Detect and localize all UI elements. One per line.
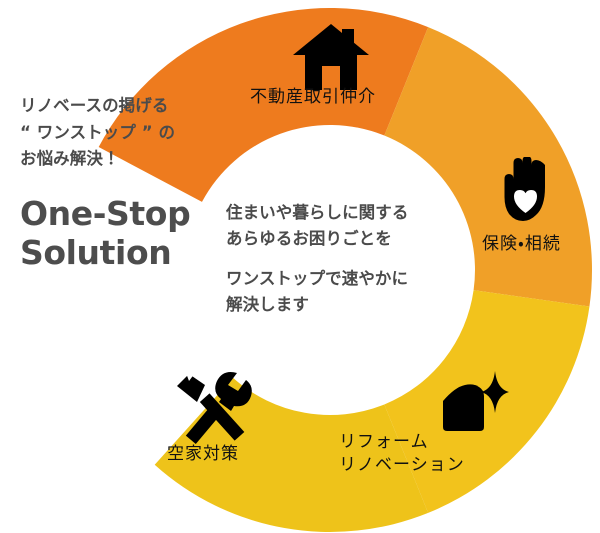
house-sparkle-icon xyxy=(437,371,509,433)
house-icon xyxy=(293,24,369,90)
hammer-wrench-icon xyxy=(175,371,255,445)
japanese-headline: リノベースの掲げる “ ワンストップ ” の お悩み解決！ xyxy=(20,93,235,173)
center-paragraph-2: ワンストップで速やかに 解決します xyxy=(226,266,441,319)
segment-label-insurance: 保険・相続 xyxy=(482,233,561,256)
segment-label-real-estate: 不動産取引仲介 xyxy=(250,86,376,109)
segment-label-vacant-house: 空家対策 xyxy=(167,443,239,466)
segment-label-reform: リフォーム リノベーション xyxy=(339,431,465,477)
english-headline: One-Stop Solution xyxy=(20,173,235,272)
left-headline-block: リノベースの掲げる “ ワンストップ ” の お悩み解決！ One-Stop S… xyxy=(20,93,235,272)
infographic-canvas: 不動産取引仲介 保険・相続 リフォーム リノベーション 空家対策 リノベースの掲… xyxy=(0,0,600,533)
center-copy-block: 住まいや暮らしに関する あらゆるお困りごとを ワンストップで速やかに 解決します xyxy=(226,200,441,319)
hand-heart-icon xyxy=(498,157,554,223)
center-paragraph-1: 住まいや暮らしに関する あらゆるお困りごとを xyxy=(226,200,441,253)
